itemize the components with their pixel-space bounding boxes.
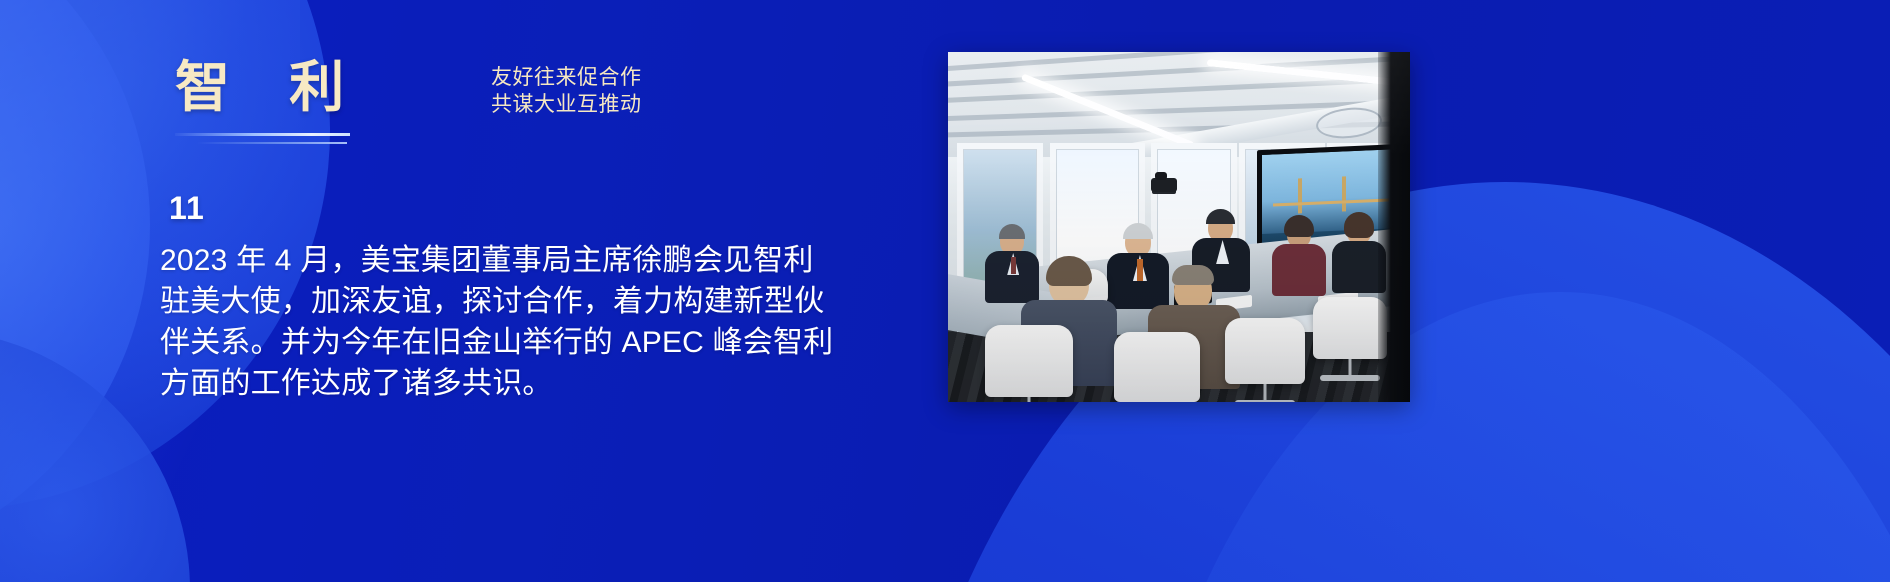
- meeting-photo-content: [948, 52, 1410, 402]
- office-chair: [1114, 332, 1200, 402]
- wall-camera-icon: [1151, 178, 1177, 192]
- meeting-photo: [948, 52, 1410, 402]
- display-bridge-tower: [1342, 176, 1346, 211]
- title-underline: [175, 133, 350, 136]
- title-block: 智 利: [175, 57, 366, 144]
- office-chair: [1225, 318, 1305, 384]
- person-hair: [1172, 265, 1214, 285]
- title-underline-secondary: [197, 142, 347, 144]
- display-bridge-tower: [1298, 178, 1302, 213]
- person-hair: [1284, 215, 1314, 237]
- item-number: 11: [169, 190, 205, 227]
- office-chair: [1313, 297, 1387, 359]
- person-tie: [1011, 257, 1016, 274]
- chair-base: [1235, 400, 1295, 402]
- office-chair: [985, 325, 1073, 397]
- slide-root: 智 利 友好往来促合作 共谋大业互推动 11 2023 年 4 月，美宝集团董事…: [0, 0, 1890, 582]
- chair-base: [1320, 375, 1380, 381]
- body-paragraph: 2023 年 4 月，美宝集团董事局主席徐鹏会见智利驻美大使，加深友谊，探讨合作…: [160, 240, 840, 404]
- chair-leg: [1348, 359, 1351, 375]
- person-torso: [1272, 244, 1326, 296]
- page-title: 智 利: [175, 57, 366, 117]
- person-tie: [1137, 259, 1143, 281]
- display-bezel: [1378, 52, 1410, 402]
- person-hair: [1344, 212, 1374, 238]
- chair-leg: [1264, 384, 1267, 400]
- header-subtitle: 友好往来促合作 共谋大业互推动: [491, 64, 642, 118]
- chair-leg: [1027, 397, 1030, 402]
